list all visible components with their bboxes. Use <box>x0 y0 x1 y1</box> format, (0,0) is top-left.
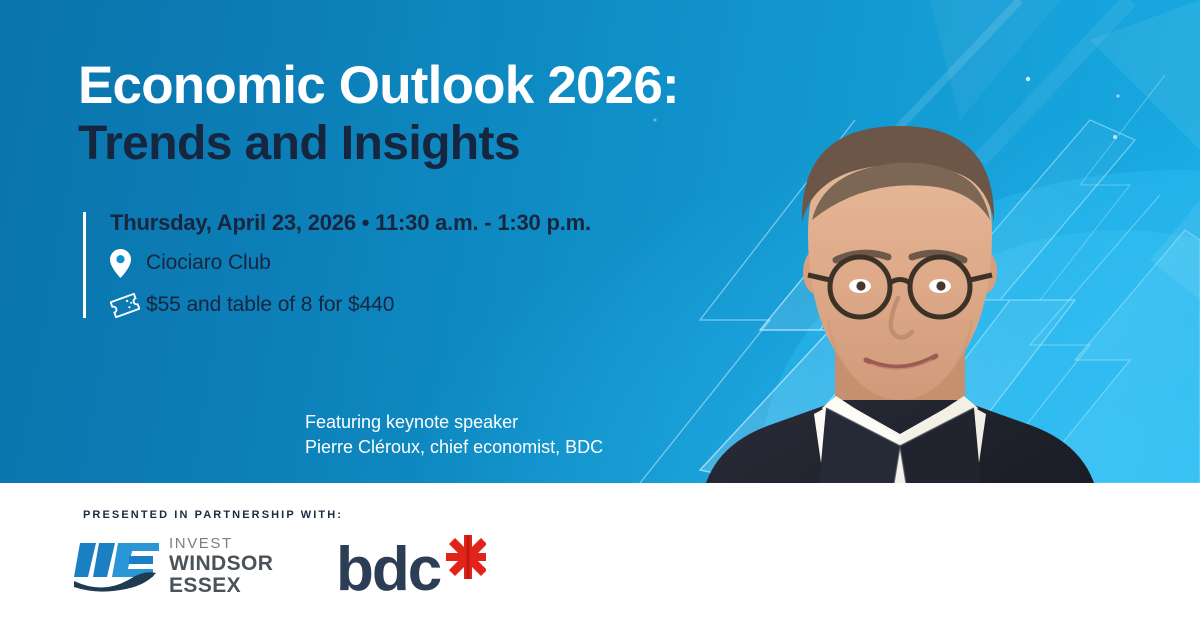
iwe-line-invest: INVEST <box>169 536 273 551</box>
page-title: Economic Outlook 2026: Trends and Insigh… <box>78 58 679 170</box>
title-line-1: Economic Outlook 2026: <box>78 58 679 114</box>
svg-text:bdc: bdc <box>336 535 441 599</box>
ticket-icon <box>110 290 146 320</box>
price-label: $55 and table of 8 for $440 <box>146 293 394 317</box>
bdc-logo-mark: bdc <box>336 533 486 599</box>
bdc-logo: bdc <box>336 533 486 599</box>
iwe-wordmark: INVEST WINDSOR ESSEX <box>169 536 273 596</box>
event-price-row: $55 and table of 8 for $440 <box>110 290 591 320</box>
speaker-line-1: Featuring keynote speaker <box>305 410 603 435</box>
iwe-line-essex: ESSEX <box>169 575 273 596</box>
iwe-line-windsor: WINDSOR <box>169 553 273 574</box>
venue-label: Ciociaro Club <box>146 251 271 275</box>
event-datetime: Thursday, April 23, 2026 • 11:30 a.m. - … <box>110 210 591 236</box>
bdc-asterisk-icon <box>446 535 486 579</box>
accent-rule <box>83 212 86 318</box>
invest-windsor-essex-logo: INVEST WINDSOR ESSEX <box>74 536 273 596</box>
partner-logos: INVEST WINDSOR ESSEX bdc <box>74 533 486 599</box>
title-line-2: Trends and Insights <box>78 118 679 171</box>
map-pin-icon <box>110 248 146 278</box>
presented-in-partnership-label: PRESENTED IN PARTNERSHIP WITH: <box>83 509 343 521</box>
event-promo-banner: Economic Outlook 2026: Trends and Insigh… <box>0 0 1200 628</box>
speaker-line-2: Pierre Cléroux, chief economist, BDC <box>305 435 603 460</box>
keynote-speaker-block: Featuring keynote speaker Pierre Cléroux… <box>305 410 603 460</box>
iwe-logo-mark <box>74 537 160 595</box>
event-venue-row: Ciociaro Club <box>110 248 591 278</box>
